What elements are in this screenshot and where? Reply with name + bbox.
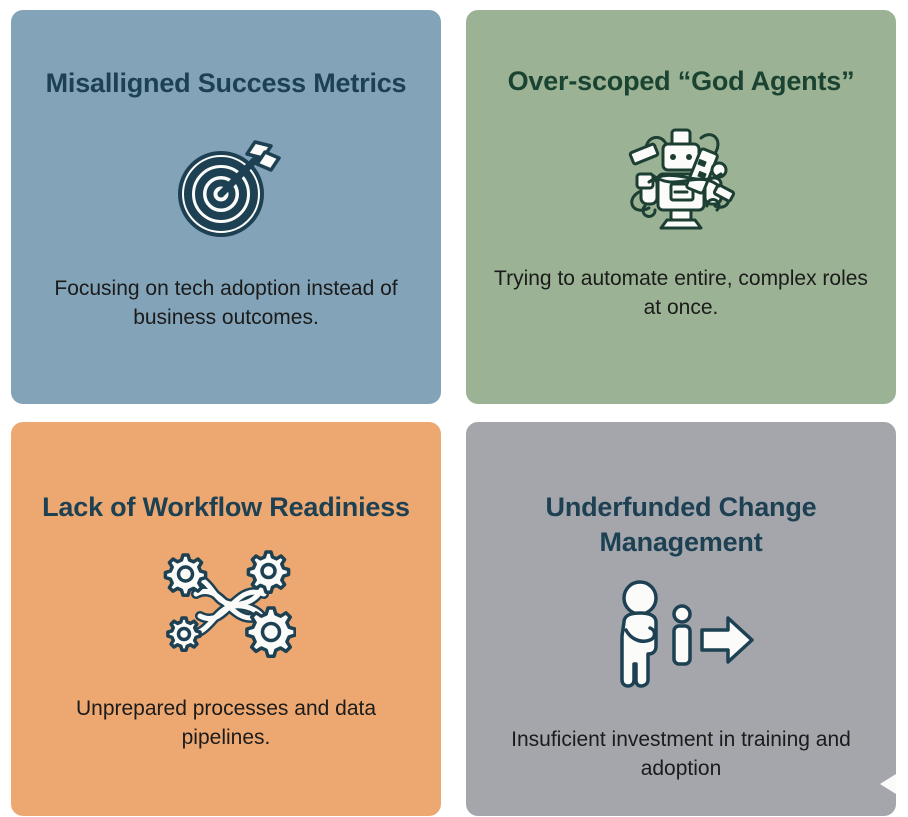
card-description: Insuficient investment in training and a… <box>492 726 870 784</box>
card-misaligned-success-metrics[interactable]: Misalligned Success Metrics Focusing on … <box>11 10 441 404</box>
overloaded-robot-icon <box>617 117 745 237</box>
card-title: Underfunded Change Management <box>492 490 870 560</box>
card-description: Unprepared processes and data pipelines. <box>37 695 415 753</box>
card-grid: Misalligned Success Metrics Focusing on … <box>0 0 908 817</box>
card-description: Focusing on tech adoption instead of bus… <box>37 275 415 333</box>
people-transition-arrow-icon <box>606 576 756 696</box>
target-arrow-icon <box>171 127 281 247</box>
card-title: Over-scoped “God Agents” <box>508 64 855 99</box>
card-title: Lack of Workflow Readiniess <box>42 490 410 525</box>
card-underfunded-change-management[interactable]: Underfunded Change Management Insuficien… <box>466 422 896 816</box>
tangled-gears-pipes-icon <box>156 545 296 665</box>
card-description: Trying to automate entire, complex roles… <box>492 265 870 323</box>
card-corner-fold-artifact <box>880 774 896 794</box>
card-over-scoped-god-agents[interactable]: Over-scoped “God Agents” <box>466 10 896 404</box>
card-lack-of-workflow-readiness[interactable]: Lack of Workflow Readiniess <box>11 422 441 816</box>
card-title: Misalligned Success Metrics <box>46 66 407 101</box>
